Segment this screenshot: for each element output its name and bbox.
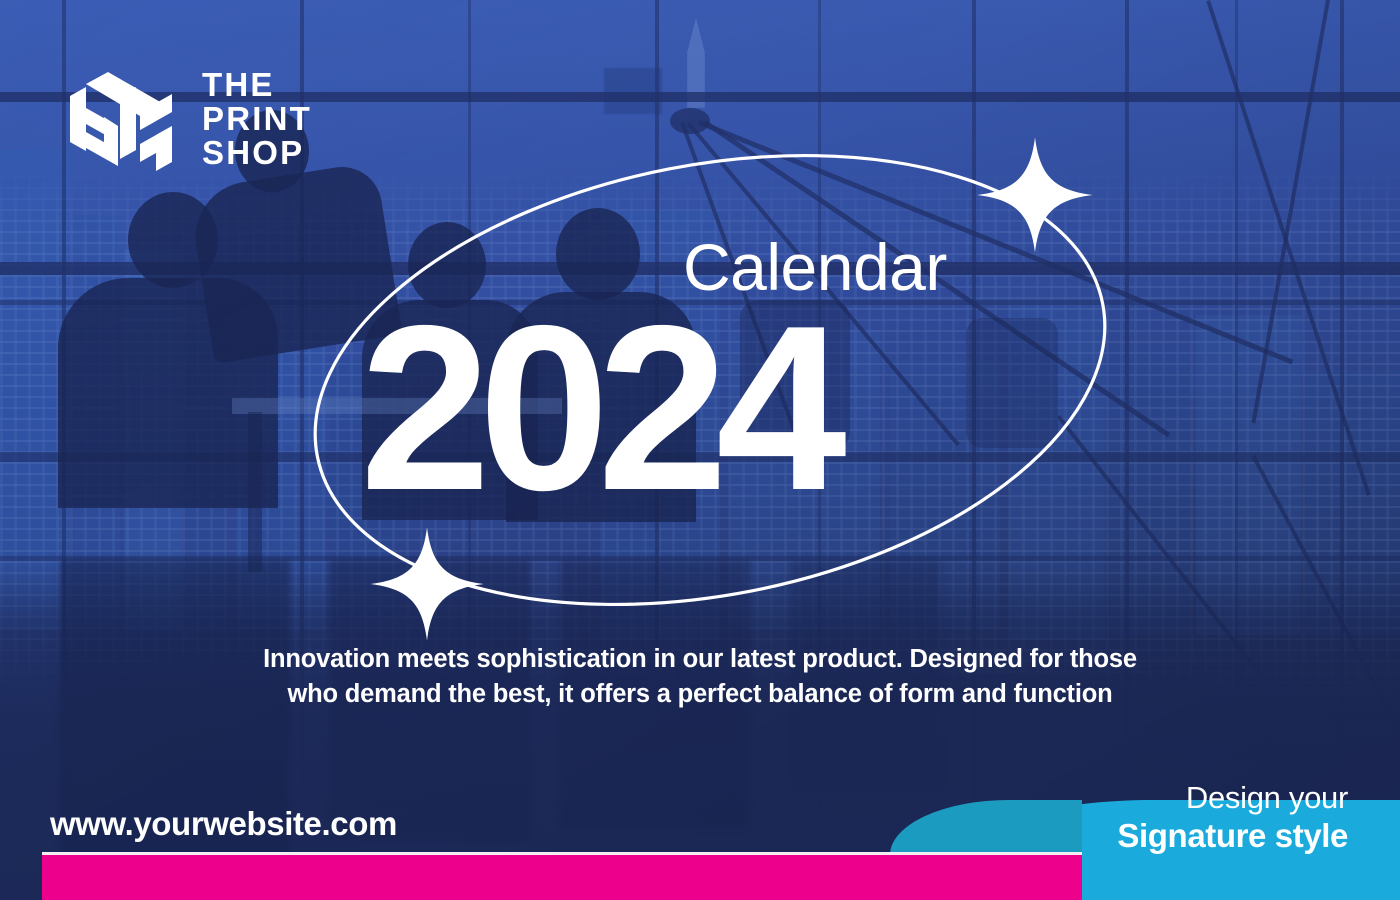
website-url[interactable]: www.yourwebsite.com (50, 805, 397, 843)
the-print-shop-hexagon-monogram-icon (62, 58, 180, 180)
brand-name-line-2: PRINT (202, 102, 312, 136)
hero-year: 2024 (360, 290, 835, 525)
calendar-cover-poster: THE PRINT SHOP Calendar 2024 Innovation … (0, 0, 1400, 900)
hero-description-line-1: Innovation meets sophistication in our l… (190, 642, 1210, 677)
brand-name-line-3: SHOP (202, 136, 312, 170)
footer-tagline-line-2: Signature style (1117, 816, 1348, 856)
four-point-sparkle-icon (975, 135, 1095, 255)
footer-tagline: Design your Signature style (1117, 780, 1348, 855)
brand-name-line-1: THE (202, 68, 312, 102)
footer-tagline-line-1: Design your (1117, 780, 1348, 816)
magenta-accent-bar (42, 852, 1082, 900)
brand-logo[interactable]: THE PRINT SHOP (62, 58, 312, 180)
brand-name: THE PRINT SHOP (202, 68, 312, 170)
four-point-sparkle-icon (368, 525, 486, 643)
hero-description: Innovation meets sophistication in our l… (190, 642, 1210, 712)
hero-description-line-2: who demand the best, it offers a perfect… (190, 677, 1210, 712)
